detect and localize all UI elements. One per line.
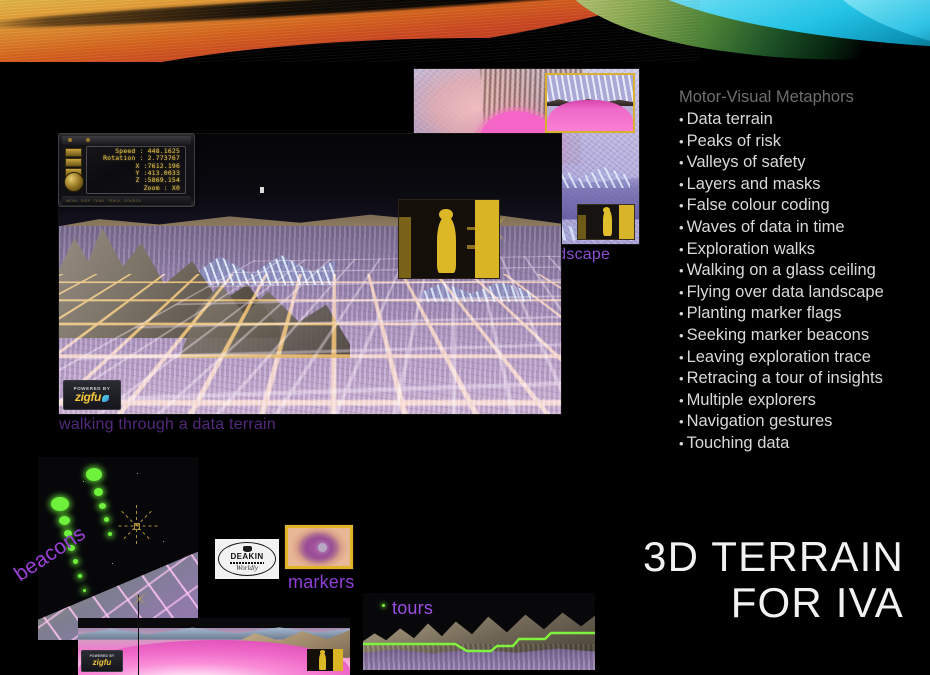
beacon-icon (51, 497, 69, 511)
deakin-worldly-logo: DEAKIN Worldly (215, 539, 279, 579)
hud-zoom-value: Zoom : X0 (144, 185, 180, 192)
metaphors-heading: Motor-Visual Metaphors (679, 86, 927, 108)
navigation-hud-panel[interactable]: Speed : 448.1625 Rotation : 2.773767 X :… (58, 133, 195, 207)
bullet-icon: • (679, 131, 684, 153)
metaphor-list-item: •Seeking marker beacons (679, 325, 927, 347)
beacon-icon (99, 503, 106, 509)
slide-canvas: flying over data landscape POWERED BY zi… (0, 0, 930, 675)
deakin-logo-ellipse: DEAKIN Worldly (218, 542, 276, 576)
bullet-icon: • (679, 109, 684, 131)
person-backdrop-right (475, 200, 499, 278)
person-backdrop-left (578, 215, 586, 239)
beacon-icon (83, 589, 86, 592)
metaphor-label: Leaving exploration trace (687, 347, 871, 369)
zigfu-leaf-icon (102, 395, 109, 402)
bullet-icon: • (679, 282, 684, 304)
metaphor-list-item: •Navigation gestures (679, 411, 927, 433)
metaphor-list-item: •Planting marker flags (679, 303, 927, 325)
person-body (437, 217, 456, 273)
marker-flag-icon (128, 588, 150, 610)
marker-thumbnail[interactable] (285, 525, 353, 569)
bullet-icon: • (679, 347, 684, 369)
metaphor-label: Data terrain (687, 109, 773, 131)
cursor-icon (260, 187, 264, 193)
metaphor-list-item: •Peaks of risk (679, 131, 927, 153)
metaphor-list-item: •Waves of data in time (679, 217, 927, 239)
exploration-trace-path (363, 627, 595, 653)
hud-button-1[interactable] (65, 148, 82, 157)
metaphor-list-item: •Exploration walks (679, 239, 927, 261)
bullet-icon: • (679, 368, 684, 390)
bullet-icon: • (679, 433, 684, 455)
metaphor-list-item: •Leaving exploration trace (679, 347, 927, 369)
bullet-icon: • (679, 260, 684, 282)
caption-walking: walking through a data terrain (59, 416, 276, 434)
hud-button-column[interactable] (63, 148, 83, 192)
depth-camera-person-icon (307, 649, 343, 671)
bullet-icon: • (679, 217, 684, 239)
metaphor-list-item: •Multiple explorers (679, 390, 927, 412)
beacon-icon (382, 604, 385, 607)
fly-inset-thumbnail[interactable] (545, 73, 635, 133)
metaphor-list-item: •Data terrain (679, 109, 927, 131)
metaphor-label: Touching data (687, 433, 790, 455)
page-title-line-2: FOR IVA (643, 580, 904, 626)
deakin-name-label: DEAKIN (230, 553, 263, 561)
hud-rotary-knob[interactable] (64, 172, 84, 192)
bullet-icon: • (679, 390, 684, 412)
planting-marker-flags-image[interactable]: POWERED BY zigfu (78, 618, 350, 675)
metaphor-label: False colour coding (687, 195, 830, 217)
hud-readout-screen: Speed : 448.1625 Rotation : 2.773767 X :… (86, 146, 186, 194)
person-backdrop-right (333, 649, 343, 671)
hud-footer-disp[interactable]: DISP (81, 199, 91, 203)
bullet-icon: • (679, 174, 684, 196)
page-title: 3D TERRAIN FOR IVA (643, 534, 904, 626)
bullet-icon: • (679, 303, 684, 325)
metaphor-label: Layers and masks (687, 174, 821, 196)
motor-visual-metaphors-list: Motor-Visual Metaphors •Data terrain•Pea… (679, 86, 927, 455)
metaphor-label: Navigation gestures (687, 411, 833, 433)
metaphor-list-item: •Valleys of safety (679, 152, 927, 174)
marker-thumbnail-flag-dot (318, 543, 327, 552)
caption-tours: tours (392, 598, 433, 619)
metaphor-label: Retracing a tour of insights (687, 368, 883, 390)
markers-sky (78, 618, 350, 628)
beacon-icon (86, 468, 102, 481)
metaphor-label: Peaks of risk (687, 131, 781, 153)
hud-footer-tune[interactable]: TUNE (93, 199, 104, 203)
metaphor-label: Waves of data in time (687, 217, 845, 239)
metaphor-list-item: •False colour coding (679, 195, 927, 217)
person-backdrop-right (619, 205, 634, 239)
metaphor-label: Planting marker flags (687, 303, 842, 325)
hud-button-2[interactable] (65, 158, 82, 167)
metaphor-list-item: •Touching data (679, 433, 927, 455)
decorative-swoosh-banner (0, 0, 930, 62)
zigfu-badge: POWERED BY zigfu (63, 380, 121, 410)
bullet-icon: • (679, 195, 684, 217)
bullet-icon: • (679, 152, 684, 174)
depth-camera-person-inset[interactable] (398, 199, 500, 279)
hud-led-2 (86, 138, 90, 142)
inset-sky (547, 75, 633, 101)
person-shelf-2 (467, 245, 475, 249)
zigfu-name-label: zigfu (75, 391, 109, 403)
metaphor-label: Seeking marker beacons (687, 325, 870, 347)
metaphor-label: Multiple explorers (687, 390, 816, 412)
metaphor-label: Exploration walks (687, 239, 815, 261)
metaphor-list-item: •Retracing a tour of insights (679, 368, 927, 390)
metaphor-label: Valleys of safety (687, 152, 806, 174)
person-body (603, 210, 612, 235)
bullet-icon: • (679, 239, 684, 261)
metaphor-list-item: •Walking on a glass ceiling (679, 260, 927, 282)
zigfu-name-label: zigfu (93, 659, 112, 667)
bullet-icon: • (679, 325, 684, 347)
depth-camera-person-icon (577, 204, 635, 240)
hud-footer-track[interactable]: TRACK (107, 199, 121, 203)
hud-footer-menu[interactable]: MENU (66, 199, 78, 203)
page-title-line-1: 3D TERRAIN (643, 534, 904, 580)
person-backdrop-left (399, 217, 411, 278)
metaphor-list-item: •Flying over data landscape (679, 282, 927, 304)
person-shelf-1 (467, 227, 475, 231)
metaphor-label: Flying over data landscape (687, 282, 884, 304)
metaphor-label: Walking on a glass ceiling (687, 260, 876, 282)
person-body (319, 653, 326, 670)
hud-led-1 (68, 138, 72, 142)
bullet-icon: • (679, 411, 684, 433)
metaphor-list-item: •Layers and masks (679, 174, 927, 196)
caption-markers: markers (288, 572, 354, 593)
beacon-icon (59, 516, 70, 525)
deakin-sub-label: Worldly (236, 565, 258, 572)
hud-footer-source[interactable]: SOURCE (124, 199, 141, 203)
hud-bottom-bezel[interactable]: MENU DISP TUNE TRACK SOURCE (62, 196, 191, 205)
hud-top-bezel (62, 136, 191, 145)
zigfu-badge-small: POWERED BY zigfu (81, 650, 123, 672)
marker-flag-icon (115, 505, 157, 547)
